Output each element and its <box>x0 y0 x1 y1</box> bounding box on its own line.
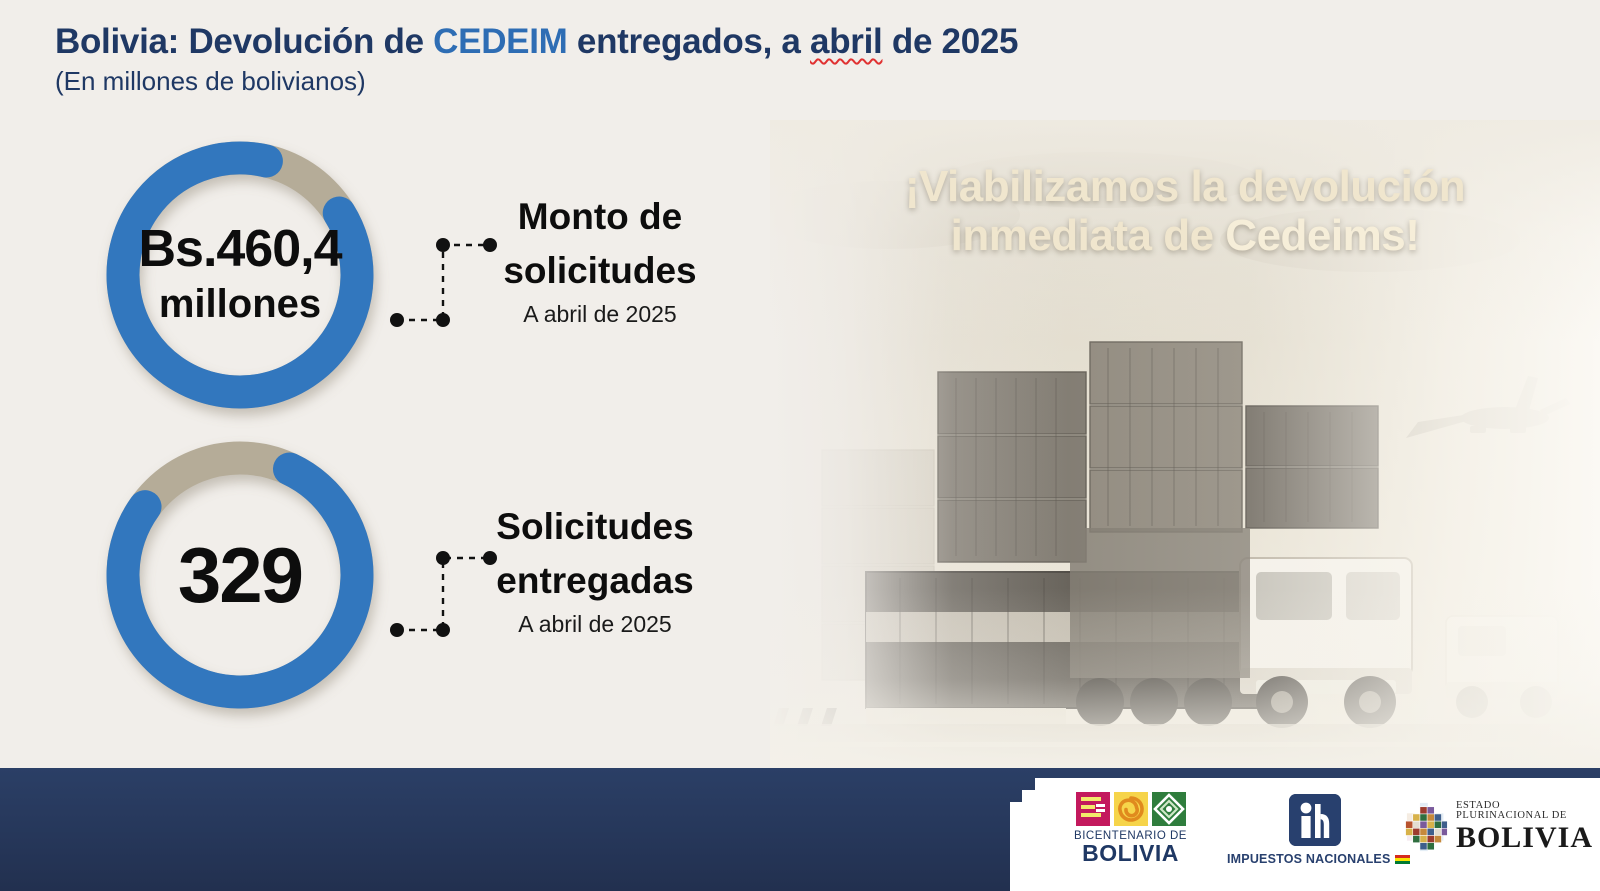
title-prefix: Bolivia: Devolución de <box>55 22 433 61</box>
stat-label-monto: Monto de solicitudes A abril de 2025 <box>435 190 765 328</box>
bicentenario-tiles <box>1053 792 1208 826</box>
impuestos-nacionales-logo: IMPUESTOS NACIONALES <box>1227 794 1402 866</box>
stat-sublabel-monto: A abril de 2025 <box>435 301 765 328</box>
stat-row-solicitudes: 329 Solicitudes entregadas A abril de 20… <box>0 430 790 730</box>
logistics-photo: ¡Viabilizamos la devolución inmediata de… <box>770 120 1600 770</box>
title-block: Bolivia: Devolución de CEDEIM entregados… <box>55 22 1305 96</box>
stat-label-line1-solicitudes: Solicitudes <box>430 500 760 554</box>
title-misspelled-word: abril <box>810 22 882 61</box>
stat-label-solicitudes: Solicitudes entregadas A abril de 2025 <box>430 500 760 638</box>
banner-line-2-strong: Cedeims! <box>1225 211 1419 260</box>
connector-dot-left <box>390 313 404 327</box>
infographic-slide: Bolivia: Devolución de CEDEIM entregados… <box>0 0 1600 891</box>
stat-label-line1-monto: Monto de <box>435 190 765 244</box>
estado-line2: BOLIVIA <box>1456 822 1593 854</box>
connector-dot-left <box>390 623 404 637</box>
impuestos-label-text: IMPUESTOS NACIONALES <box>1227 852 1391 866</box>
impuestos-monogram-icon <box>1289 794 1341 846</box>
stat-sublabel-solicitudes: A abril de 2025 <box>430 611 760 638</box>
banner-line-1: ¡Viabilizamos la devolución <box>810 162 1560 211</box>
donut-chart-monto: Bs.460,4 millones <box>95 130 385 420</box>
banner-line-2: inmediata de Cedeims! <box>810 211 1560 260</box>
stat-row-monto: Bs.460,4 millones Monto de solicitudes A… <box>0 130 790 430</box>
photo-banner-text: ¡Viabilizamos la devolución inmediata de… <box>810 162 1560 261</box>
banner-line-2-normal: inmediata de <box>951 211 1226 260</box>
donut-value-arc <box>77 112 403 438</box>
bicentenario-line2: BOLIVIA <box>1053 842 1208 865</box>
title-highlight-cedeim: CEDEIM <box>433 22 567 61</box>
footer-logo-plate: BICENTENARIO DE BOLIVIA IMPUESTOS NACION… <box>1035 778 1600 891</box>
title-suffix: de 2025 <box>882 22 1018 61</box>
bicentenario-tile-green-icon <box>1152 792 1186 826</box>
page-title: Bolivia: Devolución de CEDEIM entregados… <box>55 22 1305 61</box>
footer-step-2 <box>1010 802 1026 891</box>
title-middle: entregados, a <box>568 22 811 61</box>
donut-chart-solicitudes: 329 <box>95 430 385 720</box>
stat-label-line2-solicitudes: entregadas <box>430 554 760 608</box>
chakana-emblem-icon <box>1403 788 1450 866</box>
estado-line1: ESTADO PLURINACIONAL DE <box>1456 801 1593 822</box>
bicentenario-tile-pink-icon <box>1076 792 1110 826</box>
bicentenario-tile-spiral-icon <box>1114 792 1148 826</box>
page-subtitle: (En millones de bolivianos) <box>55 67 1305 96</box>
estado-plurinacional-logo: ESTADO PLURINACIONAL DE BOLIVIA <box>1403 788 1593 866</box>
bicentenario-logo: BICENTENARIO DE BOLIVIA <box>1053 792 1208 865</box>
impuestos-label: IMPUESTOS NACIONALES <box>1227 852 1402 866</box>
stat-label-line2-monto: solicitudes <box>435 244 765 298</box>
stats-panel: Bs.460,4 millones Monto de solicitudes A… <box>0 130 790 750</box>
estado-text: ESTADO PLURINACIONAL DE BOLIVIA <box>1456 801 1593 854</box>
